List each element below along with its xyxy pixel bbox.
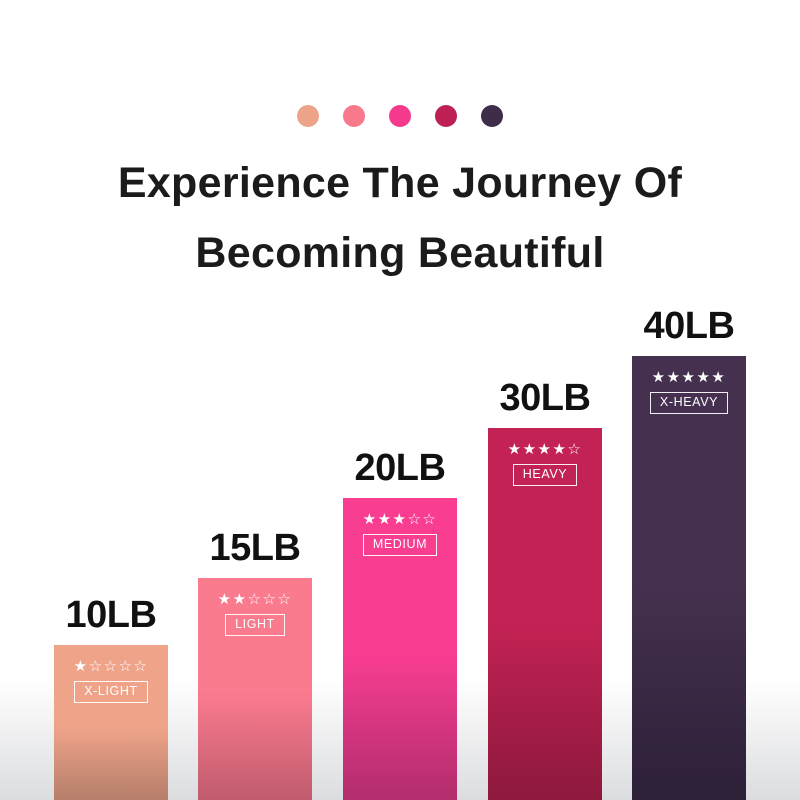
tier-label: MEDIUM	[363, 534, 437, 556]
bar-column-light[interactable]: 15LB★★☆☆☆LIGHT	[198, 578, 312, 800]
bar-badge: ★★★☆☆MEDIUM	[343, 512, 457, 556]
bar-badge: ★★☆☆☆LIGHT	[198, 592, 312, 636]
star-rating-icon: ★★☆☆☆	[218, 592, 293, 607]
tier-label: LIGHT	[225, 614, 285, 636]
bar-rect: ★★★★★X-HEAVY	[632, 356, 746, 800]
bar-column-medium[interactable]: 20LB★★★☆☆MEDIUM	[343, 498, 457, 800]
tier-label: X-LIGHT	[74, 681, 148, 703]
star-rating-icon: ★★★☆☆	[363, 512, 438, 527]
bar-column-heavy[interactable]: 30LB★★★★☆HEAVY	[488, 428, 602, 800]
star-rating-icon: ★★★★★	[652, 370, 727, 385]
promo-banner: Experience The Journey Of Becoming Beaut…	[0, 0, 800, 800]
tier-label: X-HEAVY	[650, 392, 728, 414]
bar-column-x-heavy[interactable]: 40LB★★★★★X-HEAVY	[632, 356, 746, 800]
bar-value-label: 30LB	[500, 377, 591, 420]
bar-rect: ★★☆☆☆LIGHT	[198, 578, 312, 800]
tier-label: HEAVY	[513, 464, 577, 486]
star-rating-icon: ★★★★☆	[508, 442, 583, 457]
bar-value-label: 40LB	[644, 305, 735, 348]
bar-column-x-light[interactable]: 10LB★☆☆☆☆X-LIGHT	[54, 645, 168, 800]
star-rating-icon: ★☆☆☆☆	[74, 659, 149, 674]
bar-value-label: 10LB	[66, 594, 157, 637]
bar-value-label: 15LB	[210, 527, 301, 570]
bar-badge: ★☆☆☆☆X-LIGHT	[54, 659, 168, 703]
bar-value-label: 20LB	[355, 447, 446, 490]
bar-badge: ★★★★☆HEAVY	[488, 442, 602, 486]
bar-badge: ★★★★★X-HEAVY	[632, 370, 746, 414]
bar-rect: ★☆☆☆☆X-LIGHT	[54, 645, 168, 800]
bar-rect: ★★★☆☆MEDIUM	[343, 498, 457, 800]
resistance-band-bar-chart: 10LB★☆☆☆☆X-LIGHT15LB★★☆☆☆LIGHT20LB★★★☆☆M…	[0, 0, 800, 800]
bar-rect: ★★★★☆HEAVY	[488, 428, 602, 800]
